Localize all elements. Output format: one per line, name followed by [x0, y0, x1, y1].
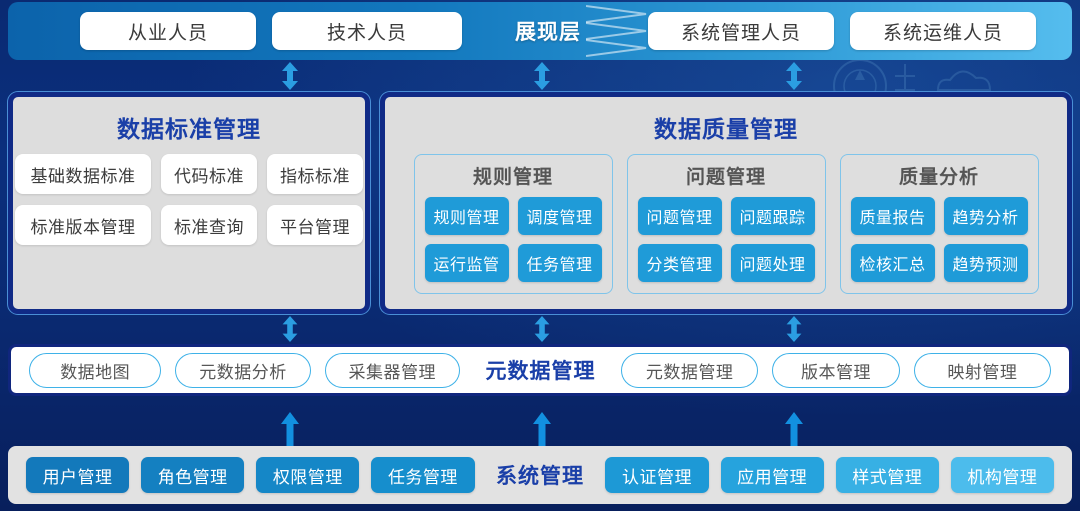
button-row: 检核汇总 趋势预测 — [851, 244, 1028, 282]
quality-subpanels: 规则管理 规则管理 调度管理 运行监管 任务管理 问题管理 — [385, 154, 1067, 294]
metadata-management-bar: 数据地图 元数据分析 采集器管理 元数据管理 元数据管理 版本管理 映射管理 — [8, 344, 1072, 396]
button-task-mgmt[interactable]: 任务管理 — [518, 244, 602, 282]
button-quality-report[interactable]: 质量报告 — [851, 197, 935, 235]
sys-button-label: 样式管理 — [852, 463, 922, 488]
sys-button-label: 角色管理 — [158, 463, 228, 488]
metadata-connector-arrows — [0, 412, 1080, 442]
button-run-monitor[interactable]: 运行监管 — [425, 244, 509, 282]
pill-version-management[interactable]: 版本管理 — [772, 353, 900, 388]
double-arrow-icon — [279, 62, 301, 90]
pill-label: 元数据管理 — [646, 358, 734, 383]
sys-button-label: 权限管理 — [273, 463, 343, 488]
sys-button-task-management[interactable]: 任务管理 — [371, 457, 474, 493]
button-row: 问题管理 问题跟踪 — [638, 197, 815, 235]
standard-chip-grid: 基础数据标准 代码标准 指标标准 标准版本管理 标准查询 平台管理 — [1, 154, 377, 245]
system-bar-title: 系统管理 — [487, 460, 594, 490]
sys-button-label: 应用管理 — [737, 463, 807, 488]
sys-button-permission-management[interactable]: 权限管理 — [256, 457, 359, 493]
sys-button-auth-management[interactable]: 认证管理 — [605, 457, 708, 493]
chip-row: 标准版本管理 标准查询 平台管理 — [15, 205, 363, 245]
role-label: 系统管理人员 — [681, 18, 801, 45]
layer-title: 展现层 — [488, 16, 608, 46]
subpanel-issue-management: 问题管理 问题管理 问题跟踪 分类管理 问题处理 — [627, 154, 826, 294]
button-grid: 规则管理 调度管理 运行监管 任务管理 — [425, 197, 602, 282]
chip-label: 指标标准 — [280, 162, 350, 187]
sys-button-org-management[interactable]: 机构管理 — [951, 457, 1054, 493]
pill-label: 数据地图 — [60, 358, 130, 383]
sys-button-style-management[interactable]: 样式管理 — [836, 457, 939, 493]
card-title: 数据标准管理 — [117, 110, 261, 144]
subpanel-quality-analysis: 质量分析 质量报告 趋势分析 检核汇总 趋势预测 — [840, 154, 1039, 294]
pill-mapping-management[interactable]: 映射管理 — [914, 353, 1051, 388]
button-category-mgmt[interactable]: 分类管理 — [638, 244, 722, 282]
button-grid: 问题管理 问题跟踪 分类管理 问题处理 — [638, 197, 815, 282]
sys-button-label: 用户管理 — [43, 463, 113, 488]
subpanel-title: 质量分析 — [899, 162, 979, 189]
data-quality-card: 数据质量管理 规则管理 规则管理 调度管理 运行监管 任务管理 — [380, 92, 1072, 314]
pill-label: 采集器管理 — [348, 358, 436, 383]
sys-button-role-management[interactable]: 角色管理 — [141, 457, 244, 493]
sys-button-label: 任务管理 — [388, 463, 458, 488]
button-row: 规则管理 调度管理 — [425, 197, 602, 235]
up-arrow-icon — [280, 412, 300, 446]
button-grid: 质量报告 趋势分析 检核汇总 趋势预测 — [851, 197, 1028, 282]
chip-standard-version-mgmt[interactable]: 标准版本管理 — [15, 205, 151, 245]
chip-basic-data-standard[interactable]: 基础数据标准 — [15, 154, 151, 194]
double-arrow-icon — [783, 316, 805, 342]
button-rule-mgmt[interactable]: 规则管理 — [425, 197, 509, 235]
role-label: 系统运维人员 — [883, 18, 1003, 45]
button-label: 调度管理 — [526, 204, 592, 228]
button-issue-handling[interactable]: 问题处理 — [731, 244, 815, 282]
button-check-summary[interactable]: 检核汇总 — [851, 244, 935, 282]
button-trend-forecast[interactable]: 趋势预测 — [944, 244, 1028, 282]
role-chip-system-admin[interactable]: 系统管理人员 — [648, 12, 834, 50]
role-chip-system-ops[interactable]: 系统运维人员 — [850, 12, 1036, 50]
pill-label: 元数据分析 — [199, 358, 287, 383]
up-arrow-icon — [784, 412, 804, 446]
button-row: 运行监管 任务管理 — [425, 244, 602, 282]
role-chip-practitioner[interactable]: 从业人员 — [80, 12, 256, 50]
chip-code-standard[interactable]: 代码标准 — [161, 154, 257, 194]
button-issue-tracking[interactable]: 问题跟踪 — [731, 197, 815, 235]
subpanel-title: 问题管理 — [686, 162, 766, 189]
double-arrow-icon — [531, 316, 553, 342]
chip-standard-query[interactable]: 标准查询 — [161, 205, 257, 245]
subpanel-rule-management: 规则管理 规则管理 调度管理 运行监管 任务管理 — [414, 154, 613, 294]
button-label: 分类管理 — [646, 251, 712, 275]
pill-label: 版本管理 — [801, 358, 871, 383]
chip-label: 标准版本管理 — [31, 213, 136, 238]
pill-label: 映射管理 — [947, 358, 1017, 383]
role-label: 从业人员 — [128, 18, 208, 45]
presentation-layer-banner: 从业人员 技术人员 展现层 系统管理人员 系统运维人员 — [8, 2, 1072, 60]
up-arrow-icon — [532, 412, 552, 446]
button-label: 运行监管 — [433, 251, 499, 275]
metadata-bar-title: 元数据管理 — [474, 355, 607, 385]
button-issue-mgmt[interactable]: 问题管理 — [638, 197, 722, 235]
button-label: 任务管理 — [526, 251, 592, 275]
sys-button-label: 认证管理 — [622, 463, 692, 488]
button-label: 问题管理 — [646, 204, 712, 228]
core-capability-cards: 数据标准管理 基础数据标准 代码标准 指标标准 标准版本管理 标准查询 平台管理… — [8, 92, 1072, 314]
button-label: 趋势分析 — [952, 204, 1018, 228]
system-management-bar: 用户管理 角色管理 权限管理 任务管理 系统管理 认证管理 应用管理 样式管理 … — [8, 446, 1072, 504]
data-standard-card: 数据标准管理 基础数据标准 代码标准 指标标准 标准版本管理 标准查询 平台管理 — [8, 92, 370, 314]
role-label: 技术人员 — [327, 18, 407, 45]
button-trend-analysis[interactable]: 趋势分析 — [944, 197, 1028, 235]
button-label: 问题处理 — [739, 251, 805, 275]
pill-data-map[interactable]: 数据地图 — [29, 353, 161, 388]
double-arrow-icon — [531, 62, 553, 90]
banner-connector-arrows — [0, 62, 1080, 92]
role-chip-technician[interactable]: 技术人员 — [272, 12, 462, 50]
button-label: 问题跟踪 — [739, 204, 805, 228]
chip-label: 平台管理 — [280, 213, 350, 238]
button-row: 分类管理 问题处理 — [638, 244, 815, 282]
button-label: 检核汇总 — [859, 251, 925, 275]
chip-platform-mgmt[interactable]: 平台管理 — [267, 205, 363, 245]
chip-label: 代码标准 — [174, 162, 244, 187]
pill-metadata-management[interactable]: 元数据管理 — [621, 353, 758, 388]
cards-connector-arrows — [0, 316, 1080, 346]
double-arrow-icon — [279, 316, 301, 342]
pill-collector-management[interactable]: 采集器管理 — [325, 353, 460, 388]
button-row: 质量报告 趋势分析 — [851, 197, 1028, 235]
button-label: 质量报告 — [859, 204, 925, 228]
sys-button-label: 机构管理 — [967, 463, 1037, 488]
chip-label: 基础数据标准 — [31, 162, 136, 187]
button-label: 规则管理 — [433, 204, 499, 228]
button-schedule-mgmt[interactable]: 调度管理 — [518, 197, 602, 235]
card-title: 数据质量管理 — [654, 110, 798, 144]
subpanel-title: 规则管理 — [473, 162, 553, 189]
sys-button-app-management[interactable]: 应用管理 — [721, 457, 824, 493]
architecture-diagram: 从业人员 技术人员 展现层 系统管理人员 系统运维人员 — [0, 0, 1080, 511]
double-arrow-icon — [783, 62, 805, 90]
chip-label: 标准查询 — [174, 213, 244, 238]
pill-metadata-analysis[interactable]: 元数据分析 — [175, 353, 310, 388]
sys-button-user-management[interactable]: 用户管理 — [26, 457, 129, 493]
chip-row: 基础数据标准 代码标准 指标标准 — [15, 154, 363, 194]
chip-indicator-standard[interactable]: 指标标准 — [267, 154, 363, 194]
button-label: 趋势预测 — [952, 251, 1018, 275]
